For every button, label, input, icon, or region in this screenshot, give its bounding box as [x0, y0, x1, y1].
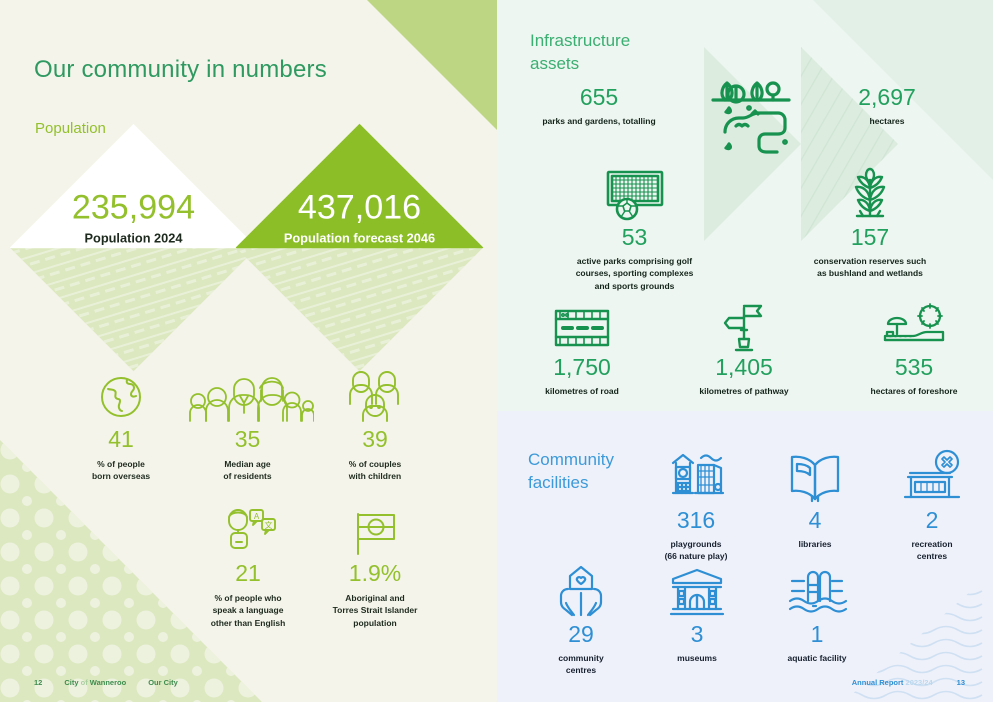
stat-kilometres-of-pathway: 1,405 kilometres of pathway: [669, 288, 819, 397]
stat-value: 1,750: [507, 356, 657, 379]
stat-language-other-than-english: A 文 21 % of people who speak a language …: [192, 500, 304, 629]
hands-house-heart-icon: [523, 555, 639, 619]
stat-median-age: 35 Median age of residents: [180, 366, 315, 483]
stat-community-centres: 29 community centres: [523, 555, 639, 677]
stat-caption: kilometres of road: [507, 385, 657, 397]
footer-section-label: Our City: [148, 678, 178, 687]
museum-icon: [639, 555, 755, 619]
stat-playgrounds: 316 playgrounds (66 nature play): [638, 441, 754, 563]
stat-museums: 3 museums: [639, 555, 755, 664]
community-facilities-panel: Community facilities: [497, 411, 993, 702]
stat-caption: % of couples with children: [320, 458, 430, 483]
stat-hectares: 2,697 hectares: [807, 86, 967, 127]
page-number: 13: [957, 678, 965, 687]
stat-value: 2: [877, 509, 987, 532]
stat-value: 1,405: [669, 356, 819, 379]
swimming-pool-icon: [759, 555, 875, 619]
stat-conservation-reserves: 157 conservation reserves such as bushla…: [775, 158, 965, 280]
stat-aboriginal-population: 1.9% Aboriginal and Torres Strait Island…: [318, 500, 432, 629]
stat-kilometres-of-road: 1,750 kilometres of road: [507, 288, 657, 397]
diamond-caption: Population 2024: [84, 230, 182, 244]
stat-caption: museums: [639, 652, 755, 664]
soccer-goal-ball-icon: [537, 158, 732, 222]
language-speech-icon: A 文: [192, 500, 304, 556]
page-number: 12: [34, 678, 42, 687]
right-page-footer: Annual Report 2023/24 13: [852, 678, 965, 687]
stat-value: 29: [523, 623, 639, 646]
stat-recreation-centres: 2 recreation centres: [877, 441, 987, 563]
stat-value: 39: [320, 428, 430, 451]
open-book-icon: [760, 441, 870, 505]
report-label: Annual Report 2023/24: [852, 678, 933, 687]
stat-hectares-of-foreshore: 535 hectares of foreshore: [839, 288, 989, 397]
stat-value: 41: [66, 428, 176, 451]
signpost-icon: [669, 288, 819, 352]
community-section-title: Community facilities: [528, 449, 614, 495]
brand-label: City of Wanneroo: [64, 678, 126, 687]
stat-caption: active parks comprising golf courses, sp…: [537, 255, 732, 292]
globe-icon: [66, 366, 176, 422]
stat-aquatic-facility: 1 aquatic facility: [759, 555, 875, 664]
section-label-population: Population: [35, 120, 106, 137]
stat-value: 1: [759, 623, 875, 646]
diamond-value: 437,016: [298, 190, 421, 226]
stat-caption: hectares: [807, 115, 967, 127]
top-right-triangle-decoration: [367, 0, 497, 130]
stat-active-parks: 53 active parks comprising golf courses,…: [537, 158, 732, 292]
stat-couples-with-children: 39 % of couples with children: [320, 366, 430, 483]
stat-caption: hectares of foreshore: [839, 385, 989, 397]
conservation-plant-icon: [775, 158, 965, 222]
aboriginal-flag-icon: [318, 500, 432, 556]
infrastructure-section-title: Infrastructure assets: [530, 30, 630, 76]
page-title: Our community in numbers: [34, 56, 327, 84]
stat-caption: parks and gardens, totalling: [509, 115, 689, 127]
svg-text:A: A: [254, 512, 260, 521]
stat-caption: % of people born overseas: [66, 458, 176, 483]
family-group-icon: [180, 366, 315, 422]
stat-caption: libraries: [760, 538, 870, 550]
population-diamond-forecast: 437,016 Population forecast 2046: [272, 160, 447, 335]
population-diamond-current: 235,994 Population 2024: [46, 160, 221, 335]
diamond-value: 235,994: [72, 190, 195, 226]
road-icon: [507, 288, 657, 352]
stat-caption: kilometres of pathway: [669, 385, 819, 397]
left-page-footer: 12 City of Wanneroo Our City: [34, 678, 178, 687]
stat-value: 35: [180, 428, 315, 451]
stat-born-overseas: 41 % of people born overseas: [66, 366, 176, 483]
infrastructure-panel: Infrastructure assets: [497, 0, 993, 411]
stat-value: 21: [192, 562, 304, 585]
left-page: Our community in numbers Population: [0, 0, 497, 702]
recreation-centre-icon: [877, 441, 987, 505]
stat-value: 4: [760, 509, 870, 532]
stat-caption: recreation centres: [877, 538, 987, 563]
stat-value: 535: [839, 356, 989, 379]
stat-caption: Median age of residents: [180, 458, 315, 483]
stat-caption: conservation reserves such as bushland a…: [775, 255, 965, 280]
playground-icon: [638, 441, 754, 505]
annual-report-spread: Our community in numbers Population: [0, 0, 993, 702]
svg-text:文: 文: [265, 520, 273, 530]
stat-value: 1.9%: [318, 562, 432, 585]
diamond-caption: Population forecast 2046: [284, 230, 435, 244]
stat-caption: aquatic facility: [759, 652, 875, 664]
stat-caption: % of people who speak a language other t…: [192, 592, 304, 629]
foreshore-beach-icon: [839, 288, 989, 352]
stat-value: 316: [638, 509, 754, 532]
park-lake-trees-icon: [705, 72, 797, 161]
stat-caption: community centres: [523, 652, 639, 677]
stat-caption: Aboriginal and Torres Strait Islander po…: [318, 592, 432, 629]
right-page: Infrastructure assets: [497, 0, 993, 702]
stat-value: 157: [775, 226, 965, 249]
stat-value: 3: [639, 623, 755, 646]
stat-parks-and-gardens: 655 parks and gardens, totalling: [509, 86, 689, 127]
couple-with-child-icon: [320, 366, 430, 422]
stat-libraries: 4 libraries: [760, 441, 870, 550]
stat-value: 2,697: [807, 86, 967, 109]
stat-value: 655: [509, 86, 689, 109]
stat-value: 53: [537, 226, 732, 249]
